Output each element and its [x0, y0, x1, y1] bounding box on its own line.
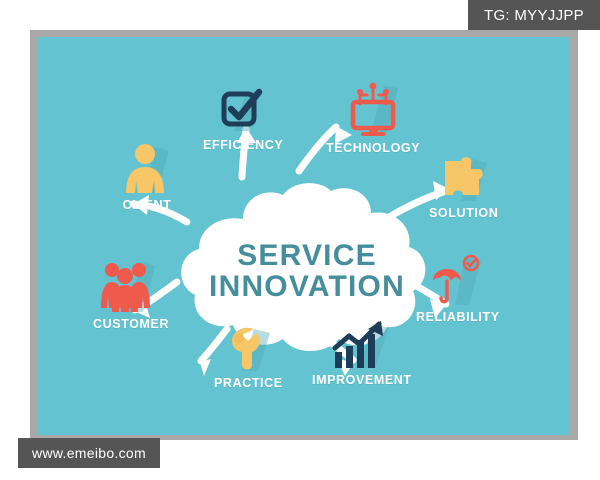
node-customer[interactable]: CUSTOMER	[93, 258, 169, 331]
umbrella-icon	[429, 253, 487, 307]
puzzle-piece-icon	[439, 155, 489, 203]
node-label-technology: TECHNOLOGY	[326, 141, 420, 155]
node-improvement[interactable]: IMPROVEMENT	[312, 320, 412, 387]
node-label-customer: CUSTOMER	[93, 317, 169, 331]
tag-watermark-chip: TG: MYYJJPP	[468, 0, 600, 30]
node-label-efficiency: EFFICIENCY	[203, 138, 283, 152]
node-technology[interactable]: TECHNOLOGY	[326, 82, 420, 155]
monitor-circuit-icon	[346, 82, 400, 138]
site-watermark-chip: www.emeibo.com	[18, 438, 160, 468]
node-reliability[interactable]: RELIABILITY	[416, 253, 500, 324]
node-label-reliability: RELIABILITY	[416, 310, 500, 324]
people-group-icon	[99, 258, 163, 314]
node-client[interactable]: CLIENT	[121, 143, 173, 212]
node-efficiency[interactable]: EFFICIENCY	[203, 87, 283, 152]
infographic-canvas: SERVICE INNOVATION EFFICIENCY	[37, 37, 570, 435]
bar-chart-growth-icon	[329, 320, 395, 370]
checkbox-check-icon	[219, 87, 267, 135]
node-label-solution: SOLUTION	[429, 206, 498, 220]
node-label-client: CLIENT	[123, 198, 172, 212]
wrench-icon	[222, 325, 274, 373]
node-practice[interactable]: PRACTICE	[214, 325, 283, 390]
node-label-practice: PRACTICE	[214, 376, 283, 390]
node-solution[interactable]: SOLUTION	[429, 155, 498, 220]
node-label-improvement: IMPROVEMENT	[312, 373, 412, 387]
person-icon	[121, 143, 173, 195]
infographic-root: SERVICE INNOVATION EFFICIENCY	[0, 0, 600, 480]
